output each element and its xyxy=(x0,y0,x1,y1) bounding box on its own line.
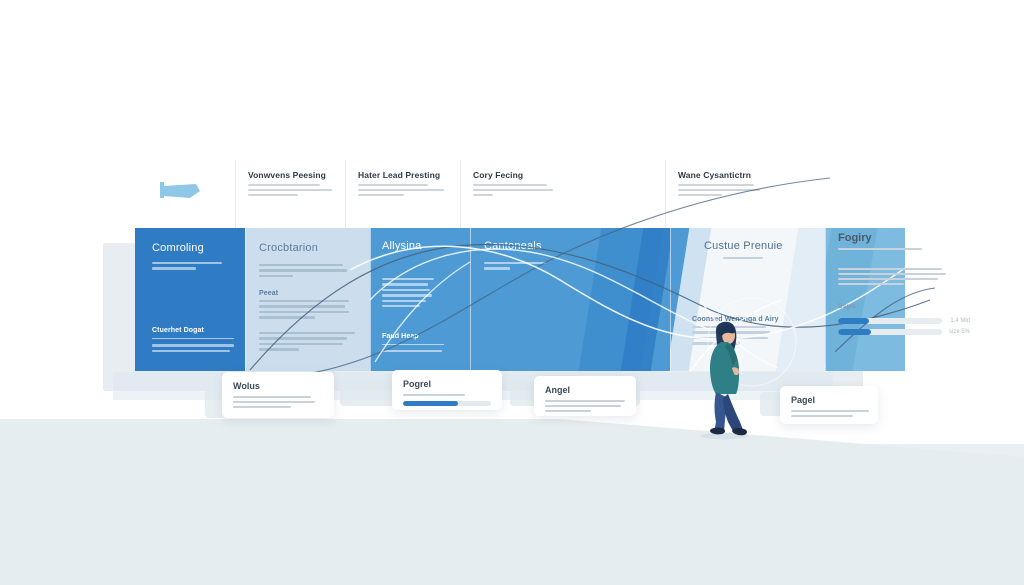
header-column-title: Vonwvens Peesing xyxy=(248,170,345,180)
card-title: Pogrel xyxy=(403,379,491,389)
panel-text-line xyxy=(259,300,349,302)
panel-text-line xyxy=(152,344,234,346)
panel-crocbtaron[interactable]: Crocbtarion Peeat xyxy=(245,228,370,371)
card-text-line xyxy=(545,400,625,402)
card-pagel[interactable]: Pagel xyxy=(780,386,878,424)
card-text-line xyxy=(545,405,621,407)
panel-text-line xyxy=(382,278,434,280)
header-text-line xyxy=(473,189,553,191)
panel-text-line xyxy=(382,305,420,307)
right-summary-panel[interactable]: Fogiry Dsgis 1.4 Mid size 5% xyxy=(838,232,970,340)
panel-text-line xyxy=(152,267,196,269)
card-progress-fill xyxy=(403,401,458,406)
panel-divider xyxy=(152,338,234,339)
right-panel-text-line xyxy=(838,278,938,280)
card-progress-track[interactable] xyxy=(403,401,491,406)
panel-title: Crocbtarion xyxy=(259,242,318,254)
panel-text-line xyxy=(723,257,763,259)
card-text-line xyxy=(233,401,315,403)
panel-text-line xyxy=(484,262,546,264)
metric-bar-value: 1.4 Mid xyxy=(948,318,970,324)
panel-band: Comroling Ctuerhet Dogat Crocbtarion xyxy=(135,228,905,371)
right-panel-text-line xyxy=(838,273,946,275)
metric-bar-row[interactable]: size 5% xyxy=(838,329,970,335)
header-column-title: Cory Fecing xyxy=(473,170,665,180)
metric-bar-track[interactable] xyxy=(838,329,942,335)
header-column-1[interactable]: Vonwvens Peesing xyxy=(235,160,345,228)
panel-title: Allysina xyxy=(382,240,422,252)
panel-text-line xyxy=(484,267,510,269)
panel-text-line xyxy=(152,350,230,352)
header-text-line xyxy=(248,189,332,191)
ground-plane xyxy=(0,405,1024,585)
header-column-4[interactable]: Wane Cysantictrn xyxy=(665,160,865,228)
panel-cantoneals[interactable]: Cantoneals xyxy=(470,228,670,371)
header-column-3[interactable]: Cory Fecing xyxy=(460,160,665,228)
metric-bar-value: size 5% xyxy=(948,329,970,335)
panel-text-line xyxy=(382,283,428,285)
card-title: Angel xyxy=(545,385,625,395)
panel-footer-label: Ctuerhet Dogat xyxy=(152,327,234,334)
panel-title: Cantoneals xyxy=(484,240,542,252)
panel-text-line xyxy=(152,262,222,264)
header-strip: Vonwvens Peesing Hater Lead Presting Cor… xyxy=(135,160,905,228)
card-text-line xyxy=(403,394,465,396)
panel-text-line xyxy=(382,350,442,352)
card-angel[interactable]: Angel xyxy=(534,376,636,416)
right-panel-text-line xyxy=(838,283,904,285)
header-text-line xyxy=(473,194,493,196)
metric-bar-track[interactable] xyxy=(838,318,942,324)
right-panel-title: Fogiry xyxy=(838,232,970,244)
panel-text-line xyxy=(382,300,426,302)
header-column-title: Wane Cysantictrn xyxy=(678,170,865,180)
card-text-line xyxy=(233,406,291,408)
card-text-line xyxy=(233,396,311,398)
panel-title: Comroling xyxy=(152,242,235,254)
person-walking-illustration xyxy=(694,316,756,440)
card-text-line xyxy=(791,415,853,417)
panel-text-line xyxy=(259,332,355,334)
header-text-line xyxy=(678,184,754,186)
panel-text-line xyxy=(259,316,315,318)
panel-text-line xyxy=(382,289,430,291)
panel-sub-label: Peeat xyxy=(259,290,349,297)
panel-text-line xyxy=(259,311,349,313)
header-column-title: Hater Lead Presting xyxy=(358,170,460,180)
illustration-canvas: Vonwvens Peesing Hater Lead Presting Cor… xyxy=(0,0,1024,585)
header-column-2[interactable]: Hater Lead Presting xyxy=(345,160,460,228)
panel-text-line xyxy=(382,294,432,296)
card-wolus[interactable]: Wolus xyxy=(222,372,334,418)
header-text-line xyxy=(678,189,760,191)
panel-allysine[interactable]: Allysina Faud Heap xyxy=(370,228,470,371)
card-pogrel[interactable]: Pogrel xyxy=(392,370,502,410)
metric-bar-row[interactable]: 1.4 Mid xyxy=(838,318,970,324)
right-panel-section-label: Dsgis xyxy=(838,303,970,310)
card-title: Pagel xyxy=(791,395,867,405)
header-text-line xyxy=(358,189,444,191)
header-text-line xyxy=(248,194,298,196)
panel-footer-label: Faud Heap xyxy=(382,333,444,340)
panel-title: Custue Prenuie xyxy=(704,240,783,252)
header-text-line xyxy=(358,194,404,196)
right-panel-text-line xyxy=(838,268,942,270)
card-text-line xyxy=(545,410,591,412)
card-text-line xyxy=(791,410,869,412)
panel-controling[interactable]: Comroling Ctuerhet Dogat xyxy=(135,228,245,371)
panel-text-line xyxy=(259,348,299,350)
panel-divider xyxy=(382,344,444,345)
right-panel-subtitle-line xyxy=(838,248,922,250)
header-text-line xyxy=(678,194,722,196)
header-text-line xyxy=(248,184,320,186)
panel-text-line xyxy=(259,269,347,271)
panel-text-line xyxy=(259,343,343,345)
metric-bar-fill xyxy=(838,318,869,324)
header-text-line xyxy=(358,184,428,186)
panel-text-line xyxy=(259,305,345,307)
diagonal-accent xyxy=(776,228,825,371)
card-title: Wolus xyxy=(233,381,323,391)
panel-text-line xyxy=(259,337,347,339)
header-text-line xyxy=(473,184,547,186)
panel-text-line xyxy=(259,264,343,266)
metric-bar-fill xyxy=(838,329,871,335)
panel-text-line xyxy=(259,275,293,277)
